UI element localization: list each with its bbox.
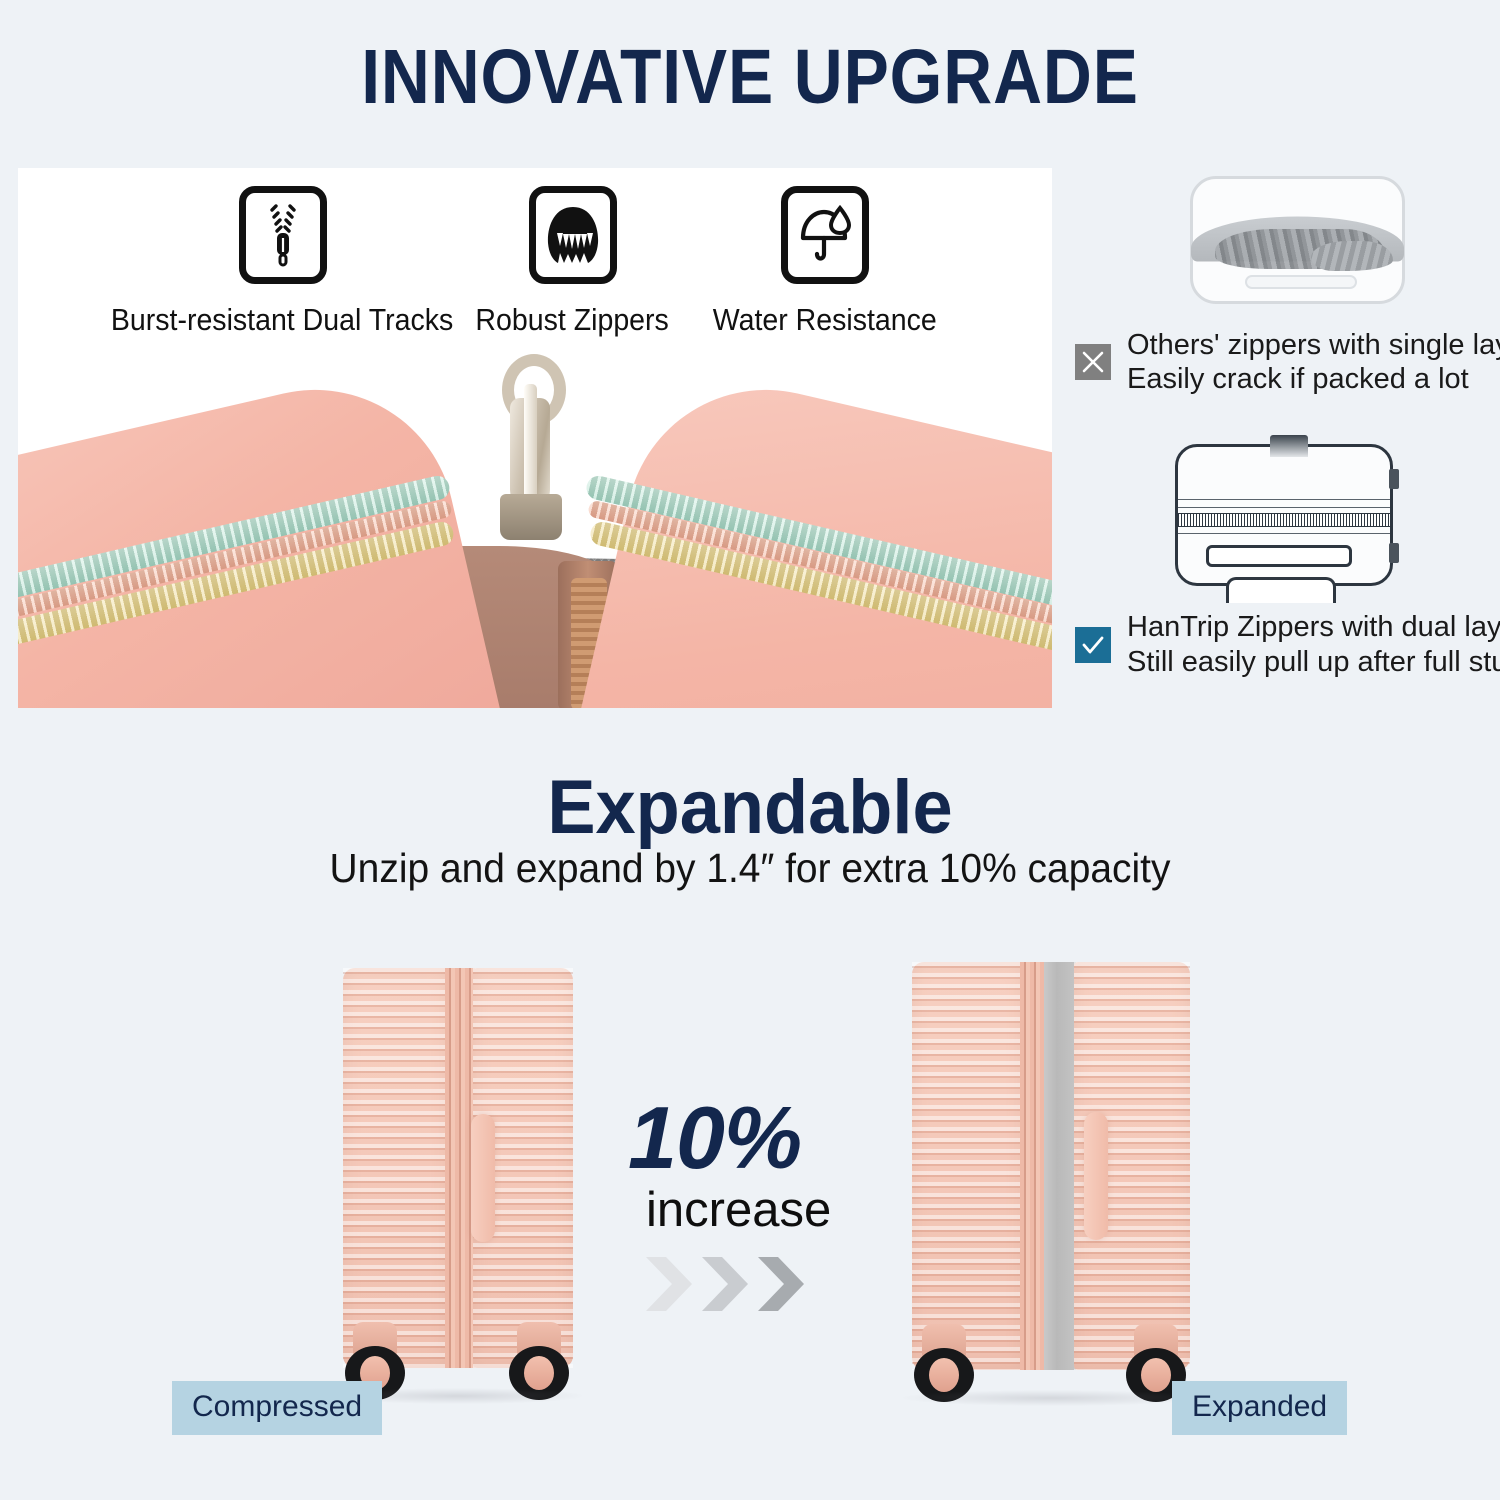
feature-label: Water Resistance	[713, 302, 937, 338]
expandable-subtitle: Unzip and expand by 1.4″ for extra 10% c…	[38, 845, 1463, 892]
zipper-photo-panel: Burst-resistant Dual Tracks Robust Zippe…	[18, 168, 1052, 708]
suitcase-expanded-image	[912, 962, 1190, 1370]
zipper-closeup-image	[18, 346, 1052, 708]
badge-percent: 10%	[628, 1096, 878, 1180]
zipper-pull	[496, 354, 568, 534]
x-mark-icon	[1075, 344, 1111, 380]
feature-label: Burst-resistant Dual Tracks	[111, 302, 453, 338]
hantrip-caption: HanTrip Zippers with dual layers Still e…	[1075, 610, 1490, 678]
badge-word: increase	[646, 1186, 878, 1235]
increase-badge: 10% increase	[628, 1096, 878, 1315]
others-suitcase-illustration	[1075, 168, 1490, 318]
check-mark-icon	[1075, 627, 1111, 663]
feature-dual-tracks: Burst-resistant Dual Tracks	[118, 186, 448, 338]
umbrella-water-drop-icon	[781, 186, 869, 284]
chevron-arrows	[642, 1253, 878, 1315]
infographic-page: INNOVATIVE UPGRADE	[0, 0, 1500, 1500]
caption-expanded: Expanded	[1172, 1381, 1347, 1435]
chevron-right-icon-2	[698, 1253, 750, 1315]
others-line-1: Others' zippers with single layer	[1127, 328, 1500, 362]
page-title: INNOVATIVE UPGRADE	[90, 33, 1410, 122]
feature-robust-zippers: Robust Zippers	[448, 186, 698, 338]
hantrip-line-2: Still easily pull up after full stuff	[1127, 645, 1500, 679]
comparison-column: Others' zippers with single layer Easily…	[1075, 168, 1490, 679]
hantrip-suitcase-illustration	[1075, 432, 1490, 600]
suitcase-compressed-image	[343, 968, 573, 1368]
chevron-right-icon-3	[754, 1253, 806, 1315]
shark-jaws-icon	[529, 186, 617, 284]
caption-compressed: Compressed	[172, 1381, 382, 1435]
feature-icon-row: Burst-resistant Dual Tracks Robust Zippe…	[18, 186, 1052, 338]
feature-label: Robust Zippers	[476, 302, 669, 338]
others-caption: Others' zippers with single layer Easily…	[1075, 328, 1490, 396]
comparison-item-others: Others' zippers with single layer Easily…	[1075, 168, 1490, 396]
feature-water-resistance: Water Resistance	[698, 186, 953, 338]
zipper-icon	[239, 186, 327, 284]
others-caption-text: Others' zippers with single layer Easily…	[1127, 328, 1500, 396]
comparison-item-hantrip: HanTrip Zippers with dual layers Still e…	[1075, 432, 1490, 678]
others-line-2: Easily crack if packed a lot	[1127, 362, 1500, 396]
expandable-title: Expandable	[38, 764, 1463, 851]
hantrip-caption-text: HanTrip Zippers with dual layers Still e…	[1127, 610, 1500, 678]
chevron-right-icon-1	[642, 1253, 694, 1315]
hantrip-line-1: HanTrip Zippers with dual layers	[1127, 610, 1500, 644]
